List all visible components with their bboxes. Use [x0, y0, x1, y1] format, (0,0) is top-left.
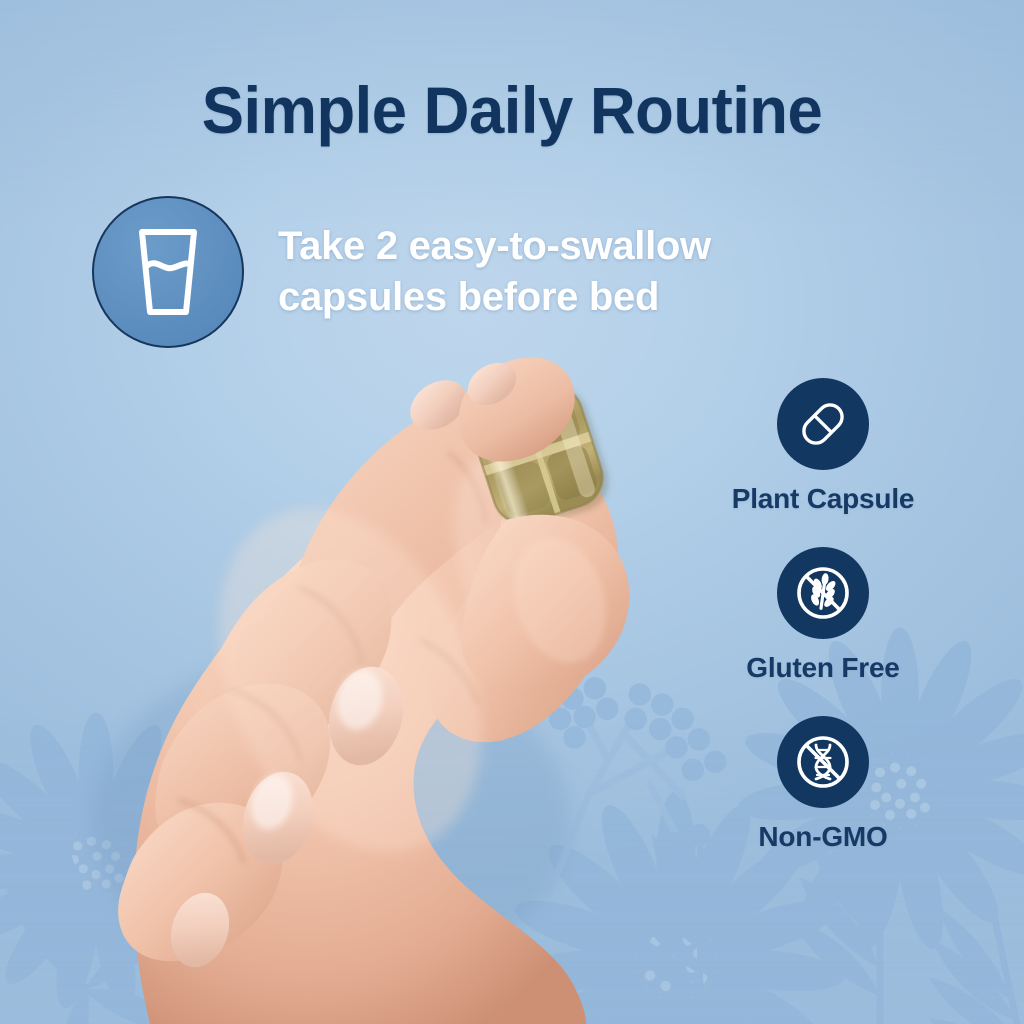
water-glass-badge: [92, 196, 244, 348]
badge-label: Gluten Free: [746, 652, 899, 684]
wheat-slash-icon: [793, 563, 853, 623]
badge-label: Non-GMO: [758, 821, 887, 853]
badge-gluten-free[interactable]: Gluten Free: [746, 547, 899, 684]
badge-non-gmo[interactable]: Non-GMO: [758, 716, 887, 853]
trust-badge-column: Plant Capsule: [713, 378, 933, 853]
capsule-icon: [795, 396, 851, 452]
instruction-line-2: capsules before bed: [278, 272, 711, 323]
product-infographic: Simple Daily Routine Take 2 easy-to-swal…: [0, 0, 1024, 1024]
badge-circle: [777, 378, 869, 470]
water-glass-icon: [129, 224, 207, 320]
instruction-row: Take 2 easy-to-swallow capsules before b…: [92, 196, 852, 348]
badge-label: Plant Capsule: [732, 483, 915, 515]
badge-plant-capsule[interactable]: Plant Capsule: [732, 378, 915, 515]
page-title: Simple Daily Routine: [20, 72, 1003, 148]
dna-slash-icon: [793, 732, 853, 792]
badge-circle: [777, 547, 869, 639]
badge-circle: [777, 716, 869, 808]
instruction-text: Take 2 easy-to-swallow capsules before b…: [278, 221, 711, 323]
instruction-line-1: Take 2 easy-to-swallow: [278, 221, 711, 272]
